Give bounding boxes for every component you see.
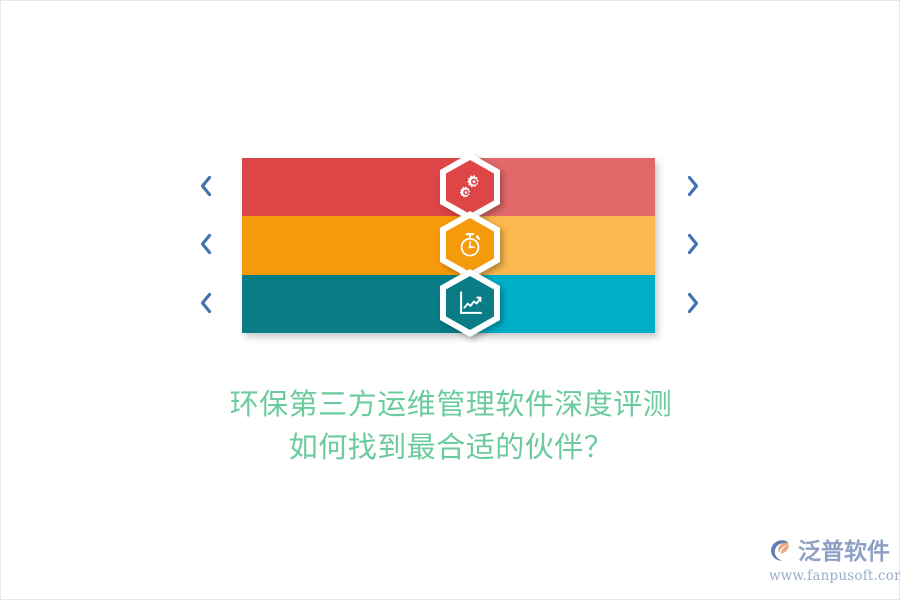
site-logo[interactable]: 泛普软件 www.fanpusoft.com — [767, 537, 889, 587]
page-title: 环保第三方运维管理软件深度评测 如何找到最合适的伙伴？ — [1, 383, 900, 469]
chevron-right-icon-row-efficiency[interactable] — [682, 231, 704, 257]
carousel-panel — [242, 158, 655, 333]
chevron-right-icon-row-process[interactable] — [682, 173, 704, 199]
row-efficiency-left-block — [242, 216, 469, 274]
logo-url-text: www.fanpusoft.com — [769, 568, 889, 584]
row-process-left-block — [242, 158, 469, 216]
fanpu-swoosh-logo-icon — [767, 538, 795, 566]
row-analytics-left-block — [242, 275, 469, 333]
hex-badge-analytics[interactable] — [440, 269, 500, 337]
logo-brand-text: 泛普软件 — [798, 538, 890, 566]
chevron-right-icon-row-analytics[interactable] — [682, 290, 704, 316]
page-title-line-2: 如何找到最合适的伙伴？ — [1, 426, 900, 469]
chevron-left-icon-row-analytics[interactable] — [195, 290, 217, 316]
page-title-line-1: 环保第三方运维管理软件深度评测 — [1, 383, 900, 426]
page-root: 环保第三方运维管理软件深度评测 如何找到最合适的伙伴？ 泛普软件 www.fan… — [0, 0, 900, 600]
chevron-left-icon-row-efficiency[interactable] — [195, 231, 217, 257]
logo-brand-row: 泛普软件 — [767, 537, 889, 567]
infographic-carousel — [187, 151, 715, 341]
chevron-left-icon-row-process[interactable] — [195, 173, 217, 199]
